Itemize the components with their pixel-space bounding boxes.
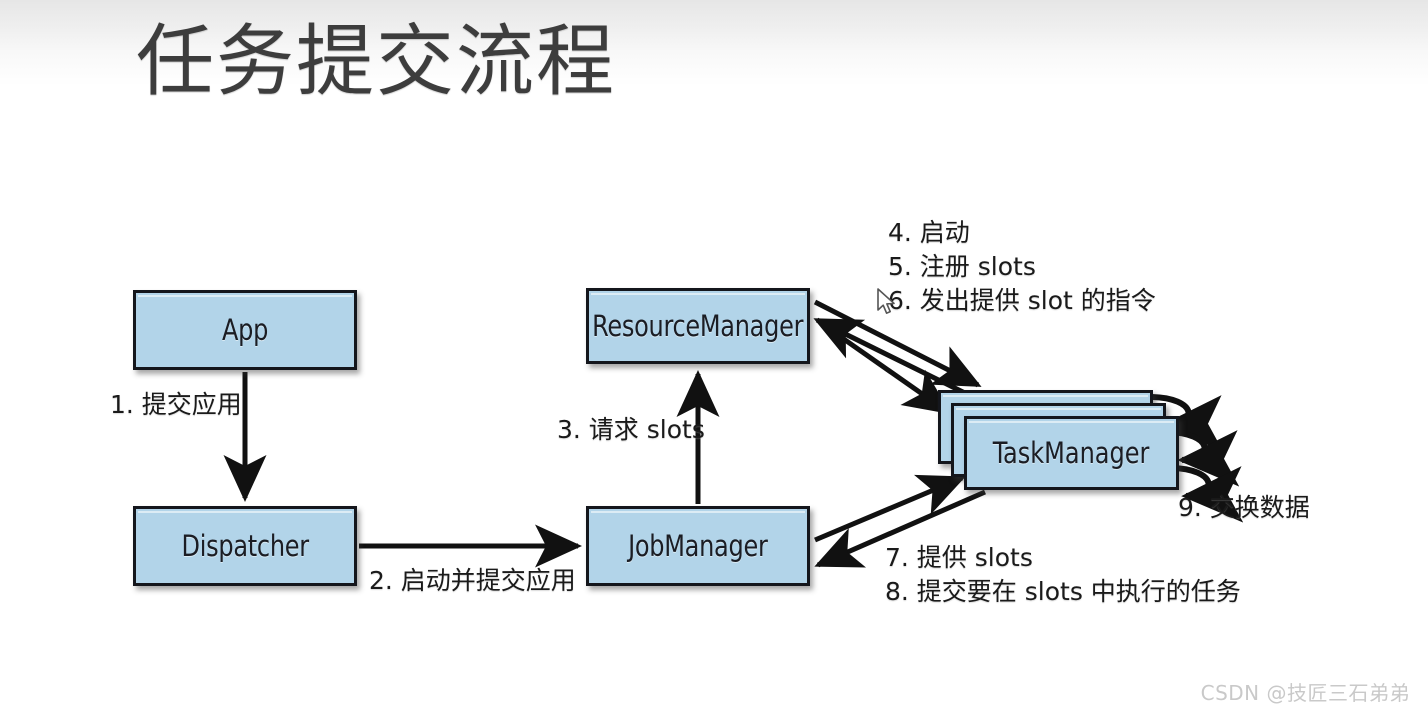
node-dispatcher-label: Dispatcher bbox=[181, 532, 308, 561]
node-taskmanager[interactable]: TaskManager bbox=[964, 416, 1179, 490]
edge-label-5: 5. 注册 slots bbox=[888, 250, 1156, 284]
node-jobmanager-label: JobManager bbox=[628, 532, 767, 561]
edge-label-8: 8. 提交要在 slots 中执行的任务 bbox=[885, 575, 1241, 609]
edge-label-9: 9. 交换数据 bbox=[1178, 491, 1310, 525]
edge-label-2: 2. 启动并提交应用 bbox=[369, 564, 576, 598]
task-submission-flow-diagram: App Dispatcher ResourceManager JobManage… bbox=[0, 0, 1428, 716]
edge-label-7: 7. 提供 slots bbox=[885, 541, 1241, 575]
node-resourcemanager-label: ResourceManager bbox=[593, 312, 804, 341]
node-taskmanager-label: TaskManager bbox=[993, 439, 1150, 468]
node-resourcemanager[interactable]: ResourceManager bbox=[586, 288, 810, 364]
edge-label-6: 6. 发出提供 slot 的指令 bbox=[888, 284, 1156, 318]
edge-label-1: 1. 提交应用 bbox=[110, 388, 242, 422]
node-app-label: App bbox=[222, 316, 268, 345]
node-jobmanager[interactable]: JobManager bbox=[586, 506, 810, 586]
node-dispatcher[interactable]: Dispatcher bbox=[133, 506, 357, 586]
edge-5-taskmanager-to-resourcemanager bbox=[817, 320, 975, 398]
edge-label-3: 3. 请求 slots bbox=[557, 413, 705, 447]
node-app[interactable]: App bbox=[133, 290, 357, 370]
edge-label-group-bottom-right: 7. 提供 slots 8. 提交要在 slots 中执行的任务 bbox=[885, 541, 1241, 609]
edge-label-4: 4. 启动 bbox=[888, 216, 1156, 250]
edge-label-group-top-right: 4. 启动 5. 注册 slots 6. 发出提供 slot 的指令 bbox=[888, 216, 1156, 318]
csdn-watermark: CSDN @技匠三石弟弟 bbox=[1201, 677, 1410, 706]
